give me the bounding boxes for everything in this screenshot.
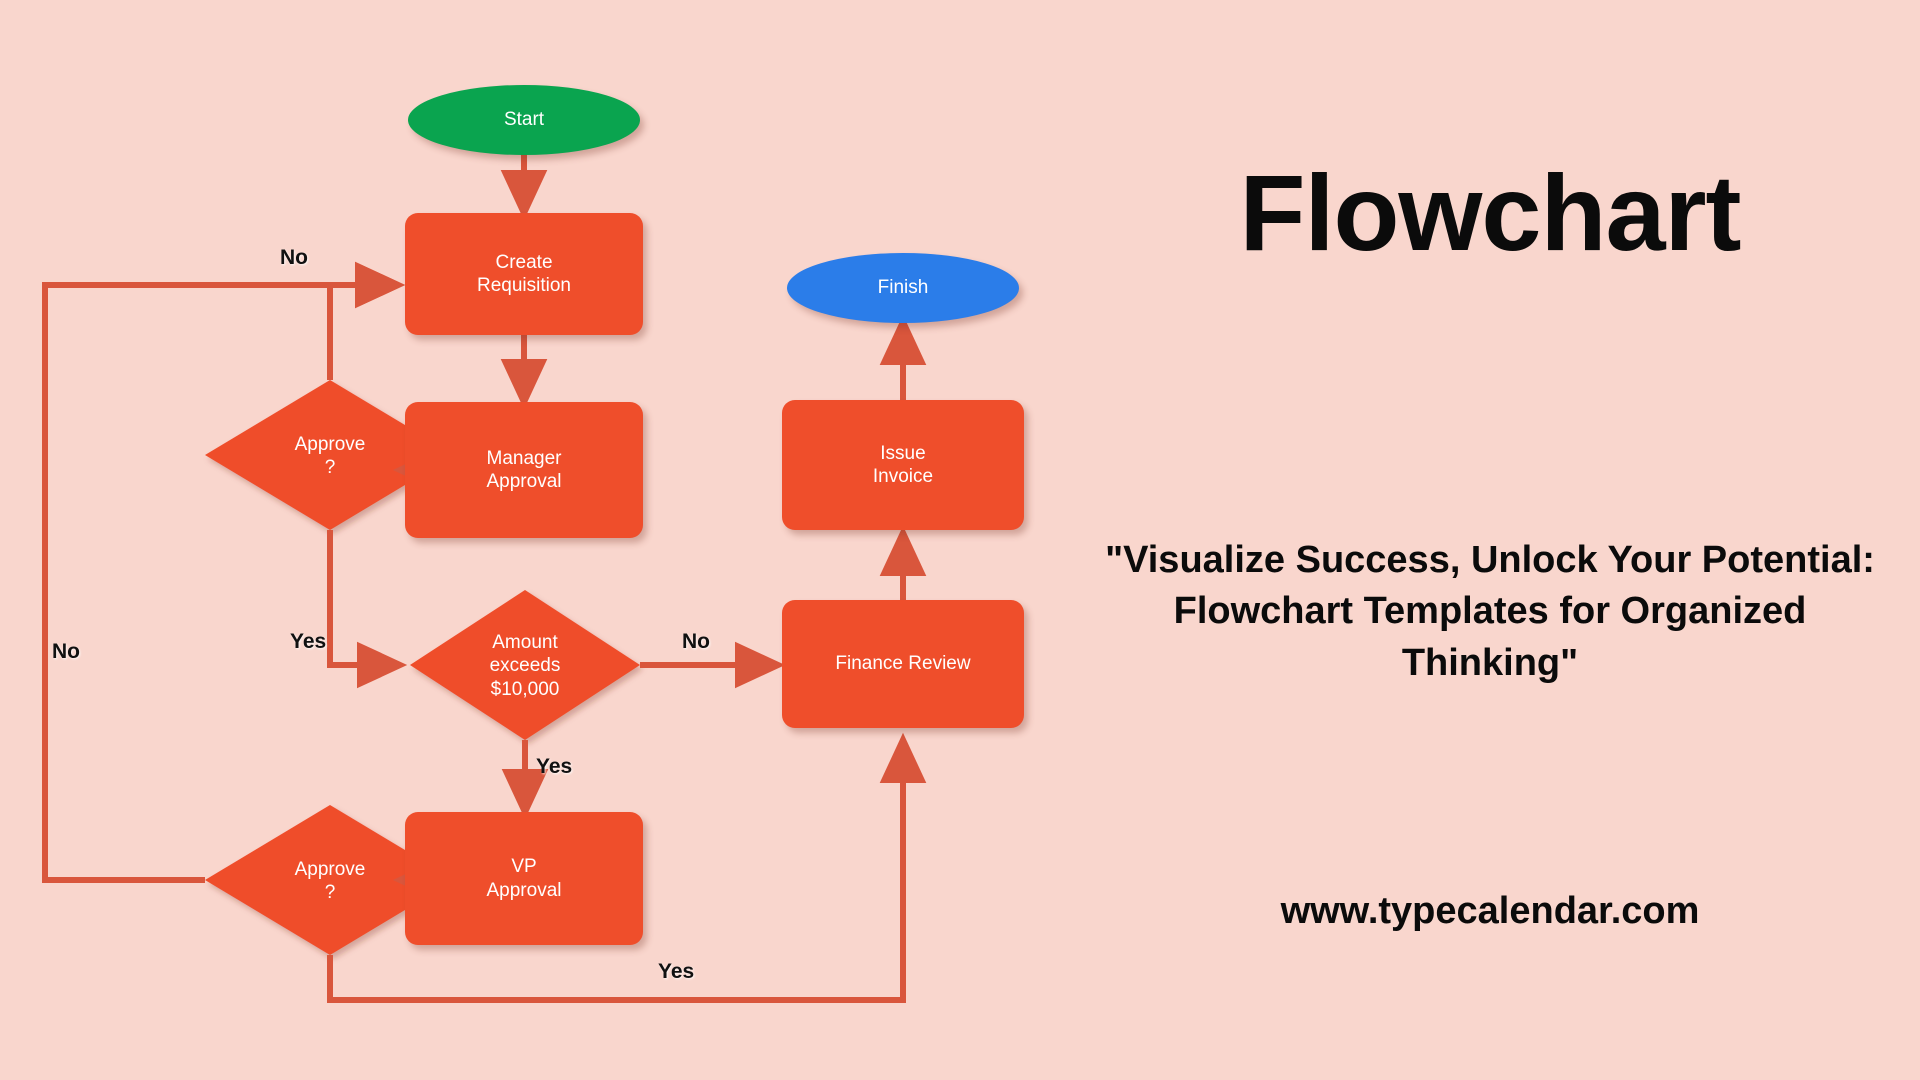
node-create-requisition-line1: Create <box>495 251 552 274</box>
node-vp-approval[interactable]: VP Approval <box>405 812 643 945</box>
node-finance-review-label: Finance Review <box>835 652 970 675</box>
edge-approve1-yes-to-amount <box>330 530 400 665</box>
node-manager-approval-line1: Manager <box>487 447 562 470</box>
poster-text-panel: Flowchart "Visualize Success, Unlock You… <box>1060 0 1920 1080</box>
tagline-quote: "Visualize Success, Unlock Your Potentia… <box>1100 535 1880 689</box>
edge-approve1-no-to-create <box>330 285 398 380</box>
edge-label-no-left: No <box>52 640 80 664</box>
edge-label-no-finance: No <box>682 630 710 654</box>
node-create-requisition-line2: Requisition <box>477 274 571 297</box>
node-manager-approval-line2: Approval <box>487 470 562 493</box>
node-start[interactable]: Start <box>408 85 640 155</box>
node-vp-approval-line2: Approval <box>487 879 562 902</box>
flowchart-diagram: Start Finish Create Requisition Manager … <box>0 0 1060 1080</box>
node-create-requisition[interactable]: Create Requisition <box>405 213 643 335</box>
node-start-label: Start <box>504 108 544 131</box>
edge-label-no-top: No <box>280 246 308 270</box>
poster-canvas: Start Finish Create Requisition Manager … <box>0 0 1920 1080</box>
edge-label-yes-vp: Yes <box>536 755 572 779</box>
node-finish-label: Finish <box>878 276 929 299</box>
node-manager-approval[interactable]: Manager Approval <box>405 402 643 538</box>
node-vp-approval-line1: VP <box>511 855 536 878</box>
edge-label-yes-bottom: Yes <box>658 960 694 984</box>
node-issue-invoice-line2: Invoice <box>873 465 933 488</box>
decision-amount-shape <box>410 590 640 740</box>
edge-approve2-no-to-create <box>45 285 398 880</box>
node-finance-review[interactable]: Finance Review <box>782 600 1024 728</box>
node-finish[interactable]: Finish <box>787 253 1019 323</box>
edge-label-yes-amount: Yes <box>290 630 326 654</box>
node-issue-invoice-line1: Issue <box>880 442 925 465</box>
node-issue-invoice[interactable]: Issue Invoice <box>782 400 1024 530</box>
page-title: Flowchart <box>1060 150 1920 275</box>
website-url: www.typecalendar.com <box>1060 890 1920 933</box>
